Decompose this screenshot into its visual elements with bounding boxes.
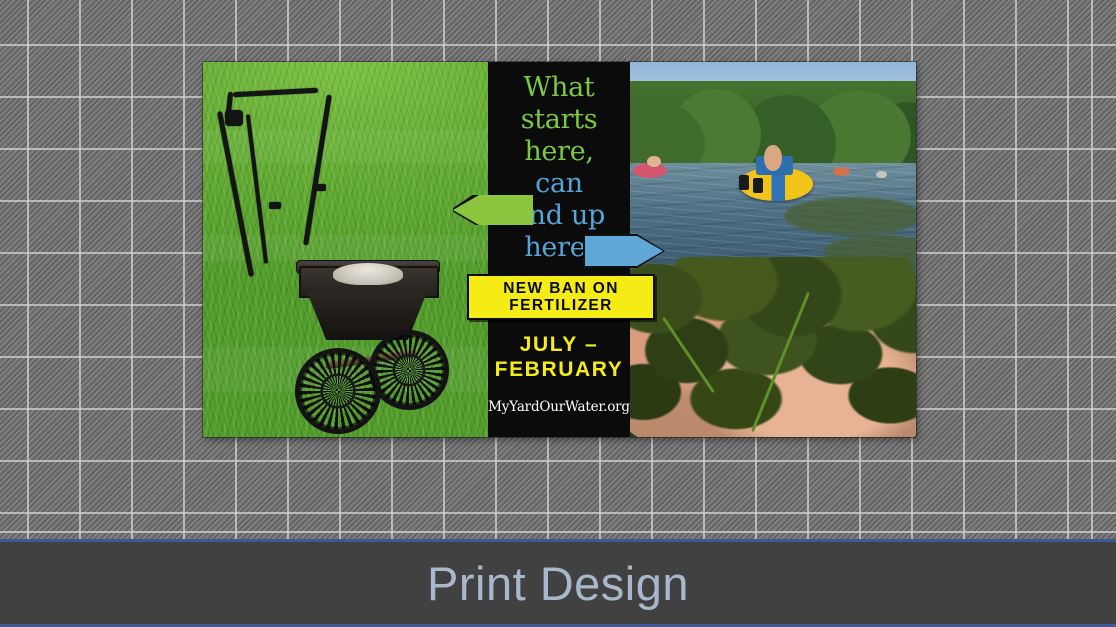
headline-line-2: starts: [488, 104, 630, 136]
spreader-wheel-right: [369, 330, 449, 410]
tuber-foot: [753, 178, 763, 193]
dates-line-2: FEBRUARY: [488, 357, 630, 382]
poster-url: MyYardOurWater.org: [488, 399, 630, 415]
new-ban-badge: NEW BAN ON FERTILIZER: [467, 274, 655, 320]
headline-line-3: here,: [488, 136, 630, 168]
spreader-clamp: [269, 202, 281, 209]
headline-line-1: What: [488, 72, 630, 104]
lawn-spreader-photo: [203, 62, 488, 437]
spreader-control-rod: [246, 114, 268, 263]
ban-date-range: JULY – FEBRUARY: [488, 332, 630, 382]
caption-bar: Print Design: [0, 539, 1116, 627]
spreader-handle-top: [233, 88, 318, 97]
spreader-clamp: [315, 184, 326, 191]
tuber-head: [764, 145, 781, 171]
spreader-wheel-left: [295, 348, 381, 434]
badge-line-1: NEW BAN ON: [503, 280, 619, 297]
spreader-handle-right-rail: [303, 95, 332, 246]
river-algae-photo: [630, 62, 916, 437]
spreader-lever: [225, 110, 243, 126]
screenshot-root: What starts here, can end up here. NEW B…: [0, 0, 1116, 627]
floating-algae-patch: [784, 197, 916, 235]
badge-line-2: FERTILIZER: [509, 297, 613, 314]
print-design-poster[interactable]: What starts here, can end up here. NEW B…: [203, 62, 916, 437]
caption-label: Print Design: [427, 560, 689, 607]
tuber-foot: [739, 175, 749, 190]
fertilizer-spreader-illustration: [203, 62, 488, 437]
fertilizer-granules: [333, 263, 403, 285]
dates-line-1: JULY –: [488, 332, 630, 357]
algae-clump: [630, 257, 916, 430]
